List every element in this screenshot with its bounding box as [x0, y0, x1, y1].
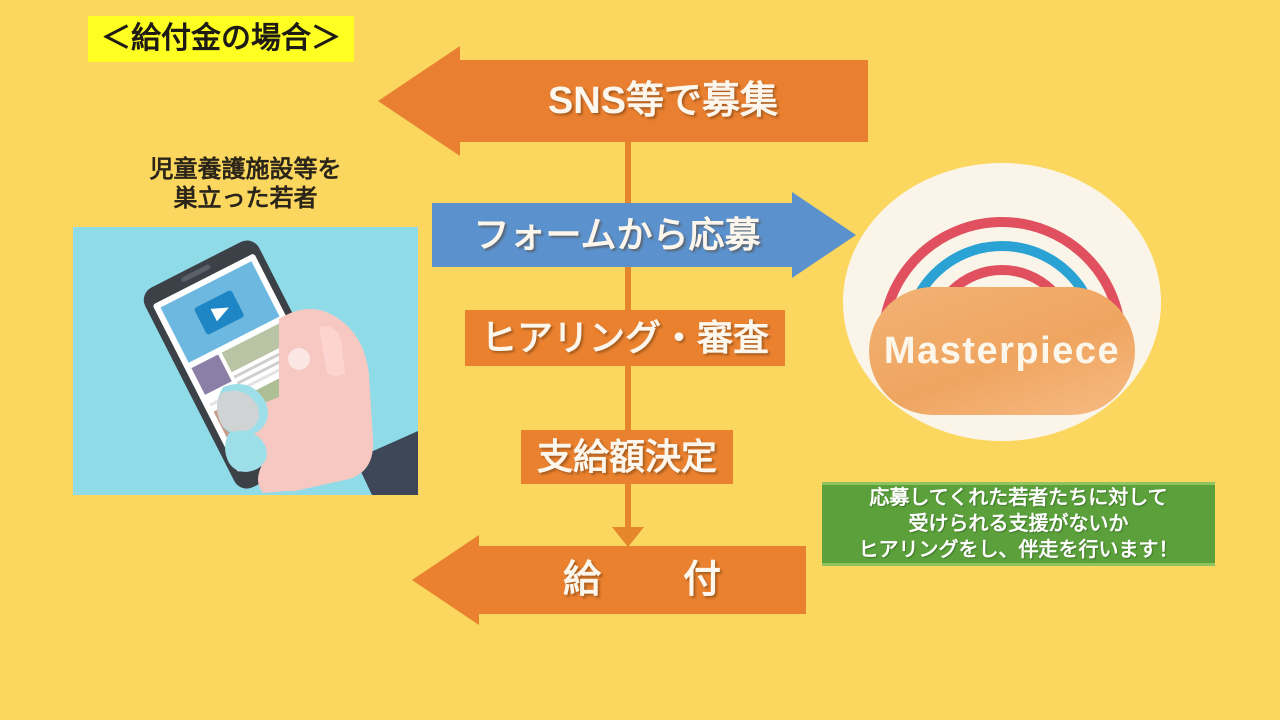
support-note-line1: 応募してくれた若者たちに対して — [869, 485, 1167, 511]
flow-step-form-label: フォームから応募 — [432, 192, 802, 278]
support-note-box: 応募してくれた若者たちに対して 受けられる支援がないか ヒアリングをし、伴走を行… — [822, 482, 1215, 566]
flow-step-sns-label: SNS等で募集 — [458, 46, 868, 156]
flow-step-form-arrow: フォームから応募 — [432, 192, 856, 278]
flow-step-hearing-box: ヒアリング・審査 — [465, 310, 785, 366]
flow-step-amount-label: 支給額決定 — [537, 439, 717, 475]
support-note-line3: ヒアリングをし、伴走を行います！ — [859, 537, 1179, 563]
hand-holding-smartphone-image — [73, 227, 418, 495]
left-actor-caption: 児童養護施設等を 巣立った若者 — [73, 155, 418, 214]
flow-step-grant-label: 給 付 — [478, 535, 806, 625]
flow-step-amount-box: 支給額決定 — [521, 430, 733, 484]
slide-canvas: ＜給付金の場合＞ 児童養護施設等を 巣立った若者 — [0, 0, 1280, 720]
masterpiece-logo: Masterpiece — [843, 163, 1161, 441]
left-actor-caption-line2: 巣立った若者 — [73, 184, 418, 213]
smartphone-illustration-svg — [73, 227, 418, 495]
arrow-left-head-icon — [378, 46, 460, 156]
masterpiece-logo-pill: Masterpiece — [869, 287, 1135, 415]
page-title: ＜給付金の場合＞ — [101, 24, 341, 54]
support-note-line2: 受けられる支援がないか — [909, 511, 1129, 537]
page-title-banner: ＜給付金の場合＞ — [88, 16, 354, 62]
flow-step-grant-arrow: 給 付 — [412, 535, 806, 625]
arrow-left-head-icon — [412, 535, 479, 625]
left-actor-caption-line1: 児童養護施設等を — [73, 155, 418, 184]
masterpiece-logo-text: Masterpiece — [884, 332, 1120, 370]
flow-step-hearing-label: ヒアリング・審査 — [481, 320, 769, 356]
flow-step-sns-arrow: SNS等で募集 — [378, 46, 868, 156]
